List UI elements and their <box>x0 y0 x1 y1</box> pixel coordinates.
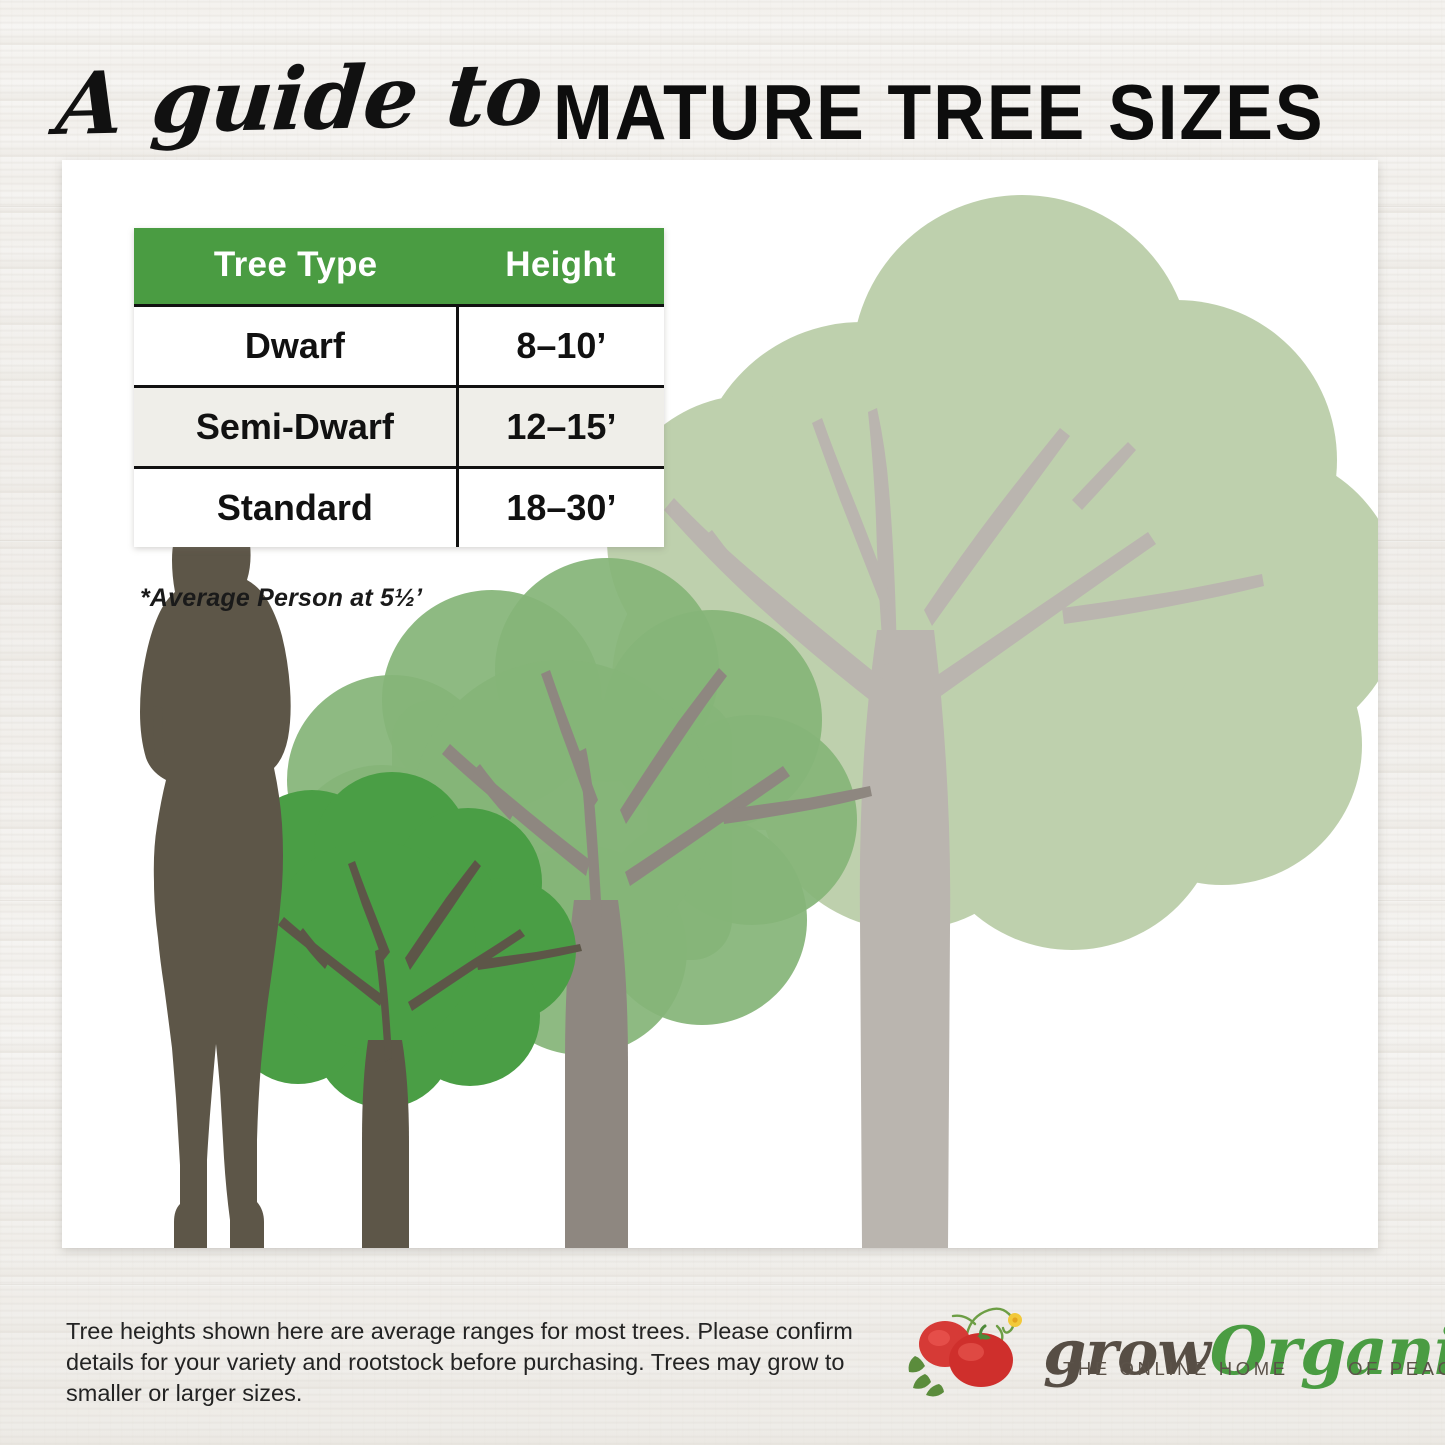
disclaimer-text: Tree heights shown here are average rang… <box>66 1316 881 1409</box>
average-person-silhouette <box>140 503 291 1248</box>
cell-height-semi-dwarf: 12–15’ <box>457 387 664 468</box>
cell-tree-type-semi-dwarf: Semi-Dwarf <box>134 387 457 468</box>
tomato-illustration-icon <box>905 1300 1055 1410</box>
table-row: Standard 18–30’ <box>134 468 664 548</box>
content-card: Tree Type Height Dwarf 8–10’ Semi-Dwarf … <box>62 160 1378 1248</box>
logo-tagline: THE ONLINE HOME OF PEACEFUL VALLEY <box>1063 1358 1445 1380</box>
tree-size-table: Tree Type Height Dwarf 8–10’ Semi-Dwarf … <box>134 228 664 547</box>
logo-tagline-right: OF PEACEFUL VALLEY <box>1348 1358 1445 1379</box>
table-row: Dwarf 8–10’ <box>134 306 664 387</box>
table-footnote: *Average Person at 5½’ <box>140 584 422 613</box>
page-title-script: A guide to <box>53 52 545 152</box>
infographic-root: A guide to MATURE TREE SIZES <box>0 0 1445 1445</box>
table-header-height: Height <box>457 228 664 306</box>
wood-plank-seam <box>0 1284 1445 1286</box>
cell-height-standard: 18–30’ <box>457 468 664 548</box>
table-row: Semi-Dwarf 12–15’ <box>134 387 664 468</box>
table-header-row: Tree Type Height <box>134 228 664 306</box>
grow-organic-logo[interactable]: growOrganic.COM THE ONLINE HOME OF PEACE… <box>905 1296 1405 1411</box>
cell-height-dwarf: 8–10’ <box>457 306 664 387</box>
page-title-caps: MATURE TREE SIZES <box>553 72 1325 152</box>
cell-tree-type-dwarf: Dwarf <box>134 306 457 387</box>
cell-tree-type-standard: Standard <box>134 468 457 548</box>
page-title: A guide to MATURE TREE SIZES <box>0 52 1445 152</box>
table-header-tree-type: Tree Type <box>134 228 457 306</box>
logo-tagline-left: THE ONLINE HOME <box>1063 1358 1289 1379</box>
